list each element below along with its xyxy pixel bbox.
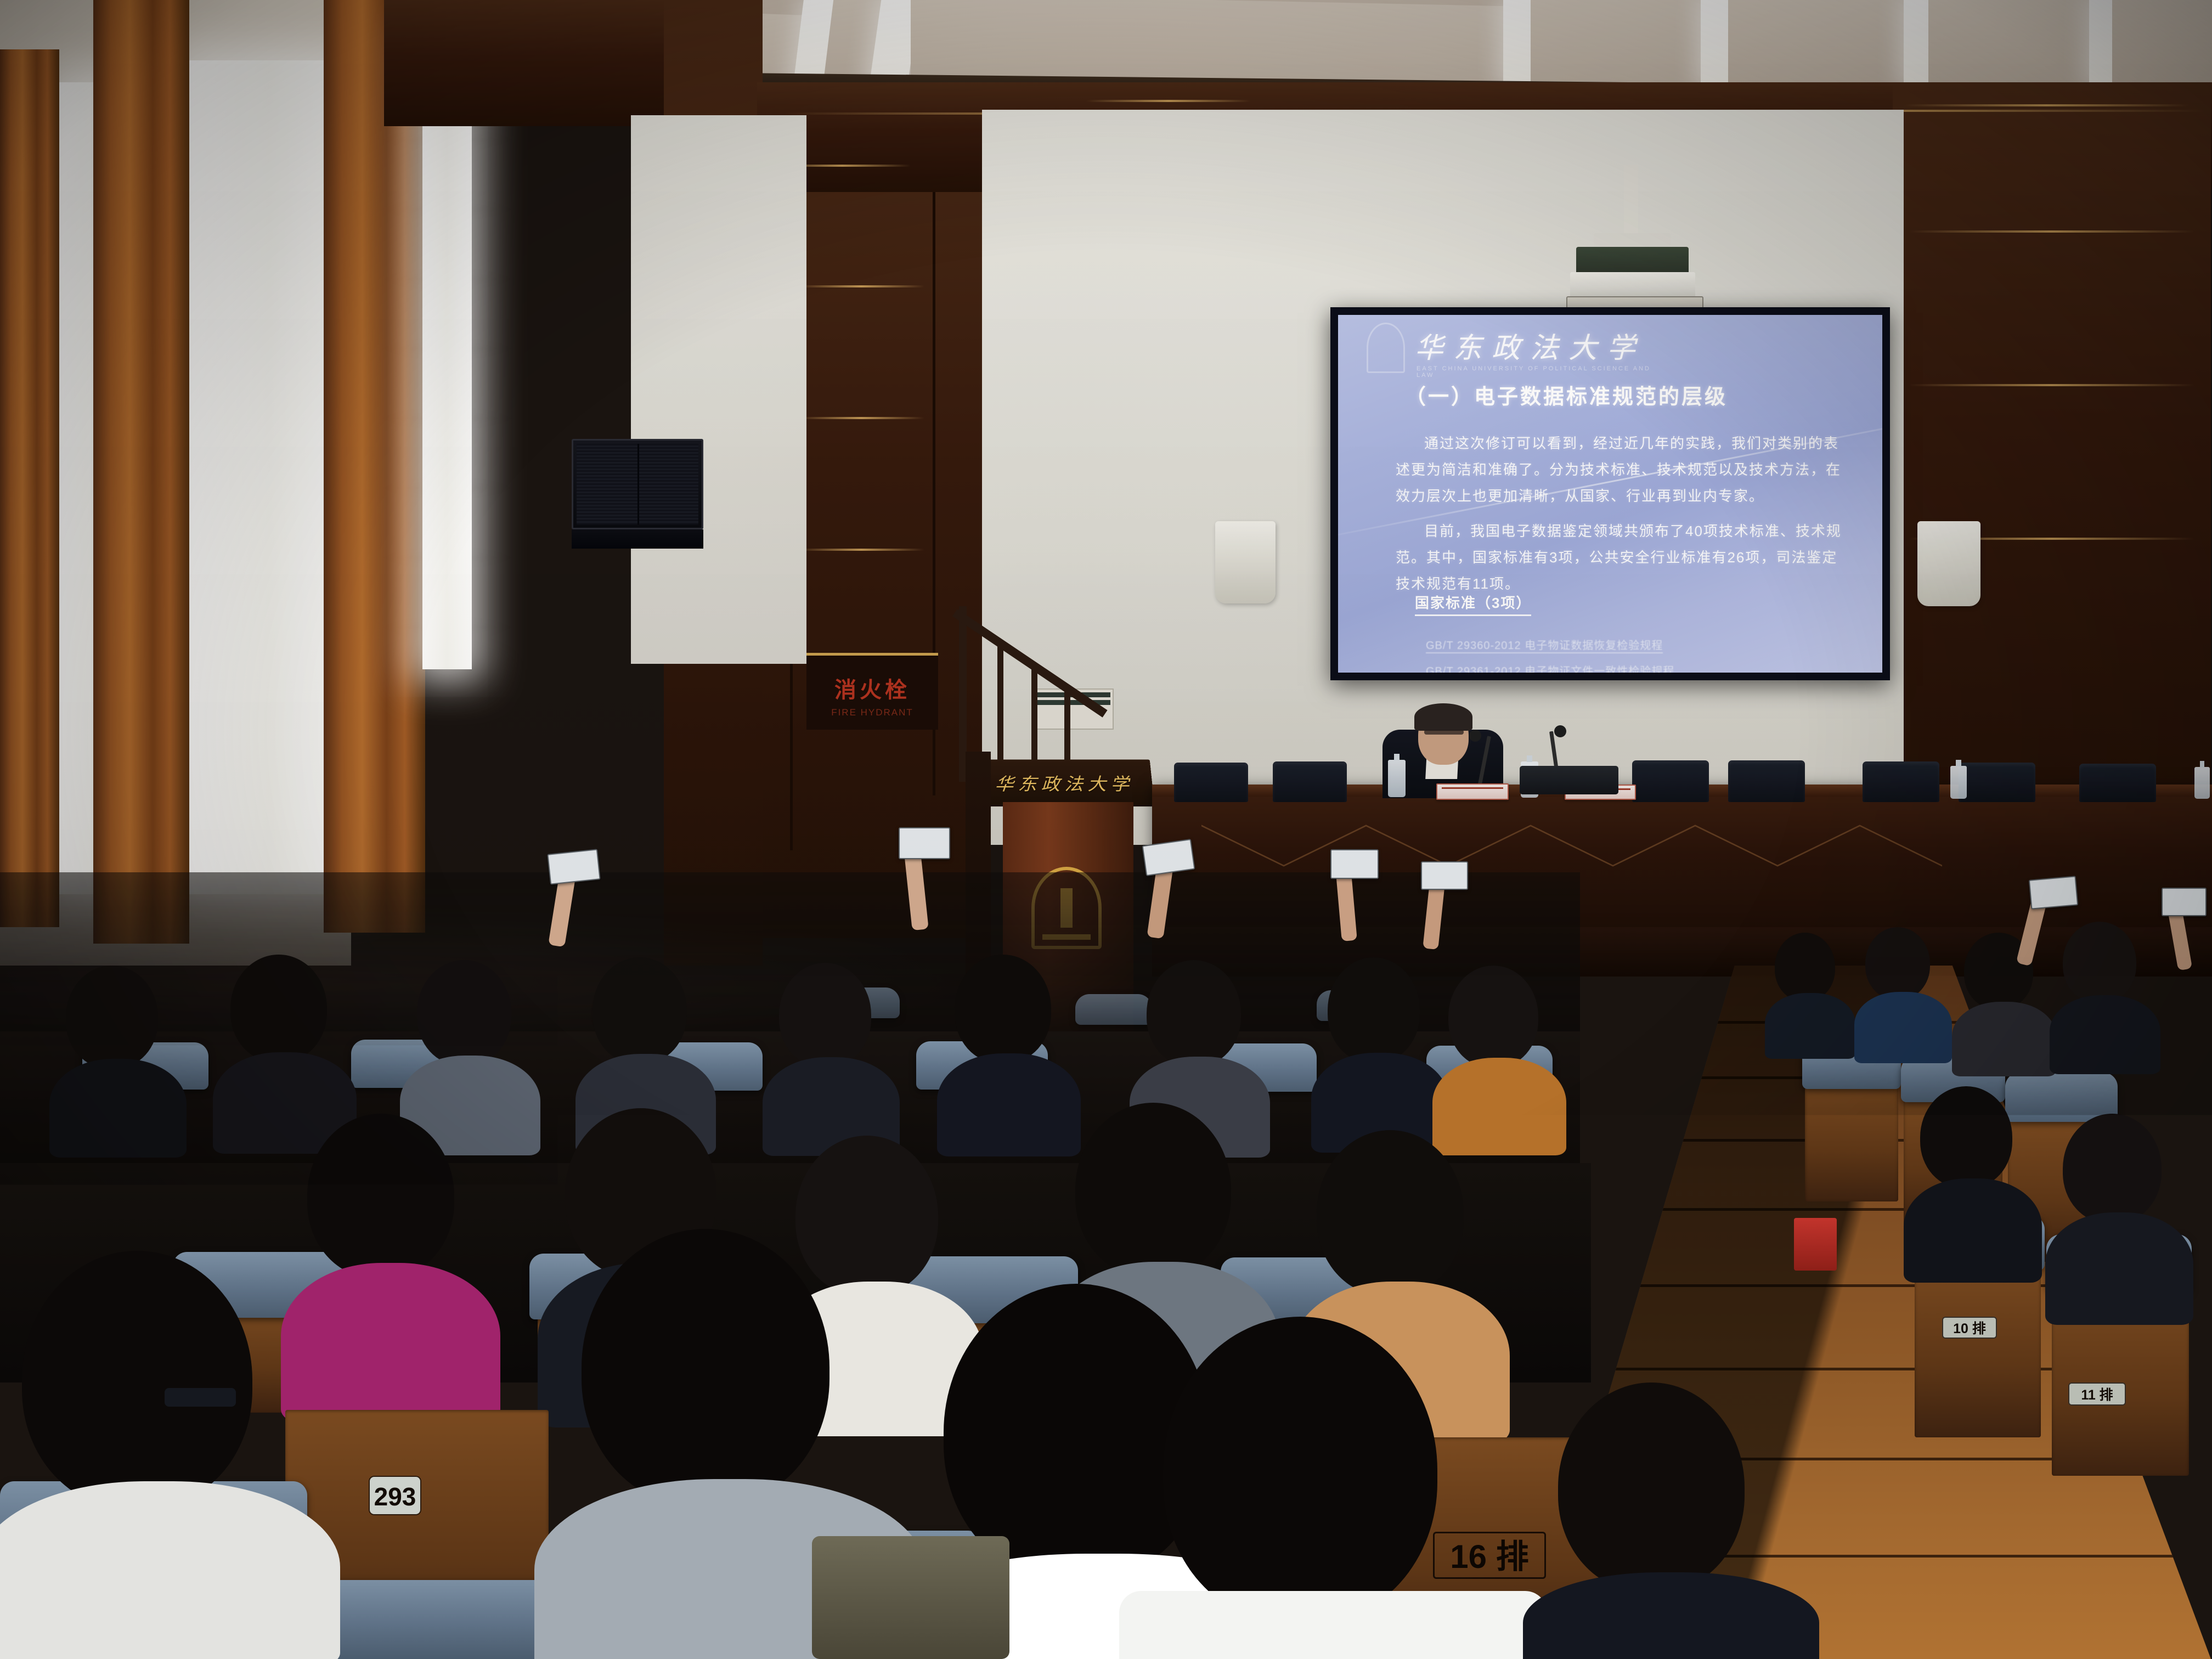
wood-gold-line (1909, 384, 2194, 386)
laptop (1520, 766, 1618, 794)
shoulder-bag (812, 1536, 1009, 1659)
smartphone (899, 827, 950, 859)
speaker-glasses (1424, 730, 1464, 735)
audience-member (2063, 922, 2151, 1059)
wall-corbel-right (1917, 521, 1980, 606)
wall-corbel-left (1215, 521, 1276, 603)
window-drape (93, 0, 189, 944)
audience-member (1865, 927, 1942, 1053)
ceiling-panel (2112, 0, 2212, 82)
lecture-hall-photo: 消火栓 FIRE HYDRANT 华东政法大学 EAST CHINA UNIVE… (0, 0, 2212, 1659)
audience-member (307, 1114, 483, 1399)
wood-gold-line (798, 549, 924, 551)
projector-mount-rod (1624, 165, 1638, 236)
wood-gold-line (1909, 230, 2194, 233)
water-bottle (2194, 767, 2210, 799)
microphone-head (1469, 730, 1481, 742)
audience-member (955, 955, 1070, 1138)
slide-links: GB/T 29360-2012 电子物证数据恢复检验规程 GB/T 29361-… (1426, 636, 1674, 673)
speaker-hair (1414, 703, 1472, 731)
water-bottle (1950, 766, 1967, 799)
slide-link-item: GB/T 29360-2012 电子物证数据恢复检验规程 (1426, 636, 1663, 653)
stage-chair (1863, 761, 1939, 802)
smartphone (2162, 888, 2207, 916)
seat-frame (1805, 1075, 1898, 1201)
seat-number: 293 (369, 1476, 421, 1515)
audience-member (1775, 933, 1846, 1048)
wood-gold-line (1086, 100, 1251, 102)
smartphone (1421, 861, 1468, 890)
fire-sign-label-en: FIRE HYDRANT (806, 707, 938, 718)
red-handbag (1794, 1218, 1837, 1271)
slide-surface: 华东政法大学 EAST CHINA UNIVERSITY OF POLITICA… (1338, 315, 1882, 673)
slide-logo-en: EAST CHINA UNIVERSITY OF POLITICAL SCIEN… (1417, 365, 1652, 379)
lectern-label: 华东政法大学 (994, 770, 1135, 795)
ceiling-panel (1928, 0, 2093, 82)
ceiling-light-strip (2089, 0, 2114, 82)
slide-paragraph-1: 通过这次修订可以看到，经过近几年的实践，我们对类别的表述更为简洁和准确了。分为技… (1396, 430, 1851, 509)
slide-emblem-icon (1367, 323, 1405, 373)
slide-title: （一）电子数据标准规范的层级 (1405, 380, 1728, 410)
smartphone (547, 849, 600, 884)
ceiling-light-strip (1904, 0, 1931, 82)
sheer-curtain (422, 33, 472, 669)
seat-cushion (1075, 994, 1152, 1025)
slide-link-item: GB/T 29361-2012 电子物证文件一致性检验规程 (1426, 662, 1674, 673)
audience-member (230, 955, 346, 1136)
wood-gold-line (798, 417, 924, 419)
audience-member-foreground (22, 1251, 307, 1659)
wall-speaker (572, 439, 703, 529)
stage-chair (1273, 761, 1347, 802)
stage-chair (1174, 763, 1248, 802)
wood-panel (384, 0, 669, 126)
audience-member (1448, 966, 1555, 1141)
fire-sign-label-cn: 消火栓 (806, 672, 938, 704)
slide-subheading: 国家标准（3项） (1415, 592, 1531, 616)
fire-hydrant-sign: 消火栓 FIRE HYDRANT (806, 653, 938, 730)
ceiling-panel (1531, 0, 1706, 82)
wood-gold-line (1904, 104, 2189, 106)
row-marker: 11 排 (2068, 1383, 2126, 1406)
speaker-nameplate (1436, 783, 1509, 800)
water-bottle (1388, 760, 1406, 797)
lectern-top: 华东政法大学 (979, 760, 1154, 806)
slide-subheading-wrap: 国家标准（3项） (1415, 592, 1531, 616)
smartphone (1330, 849, 1379, 879)
ceiling-panel (1728, 0, 1909, 82)
smartphone (2029, 876, 2078, 909)
window-drape (0, 49, 59, 927)
ceiling-light-strip (1701, 0, 1730, 82)
wood-gold-line (798, 285, 924, 287)
stage-chair (1632, 760, 1709, 802)
wood-pilaster-right (1893, 82, 2211, 839)
microphone-head (1554, 725, 1566, 737)
row-marker: 10 排 (1942, 1317, 1997, 1339)
front-wall-left-return (631, 115, 806, 664)
slide-paragraph-2: 目前，我国电子数据鉴定领域共颁布了40项技术标准、技术规范。其中，国家标准有3项… (1396, 518, 1851, 597)
projection-screen: 华东政法大学 EAST CHINA UNIVERSITY OF POLITICA… (1330, 307, 1890, 680)
audience-member-foreground (1558, 1383, 1788, 1659)
wall-speaker-base (572, 529, 703, 549)
slide-logo-cn: 华东政法大学 (1415, 325, 1645, 366)
audience-member (2063, 1114, 2181, 1306)
audience-member (66, 966, 176, 1141)
audience-member (779, 963, 889, 1141)
audience-member (1920, 1086, 2030, 1267)
stage-chair (1728, 760, 1805, 802)
audience-member (1328, 957, 1437, 1138)
window-drape (324, 0, 425, 933)
foreground-person-shirt (1119, 1591, 1547, 1659)
eyeglasses (165, 1388, 236, 1407)
audience-member (417, 960, 529, 1138)
projector-mount-bracket (1594, 233, 1671, 247)
stage-chair (1959, 763, 2035, 802)
seat-frame (1915, 1256, 2041, 1437)
stage-chair (2079, 764, 2156, 802)
